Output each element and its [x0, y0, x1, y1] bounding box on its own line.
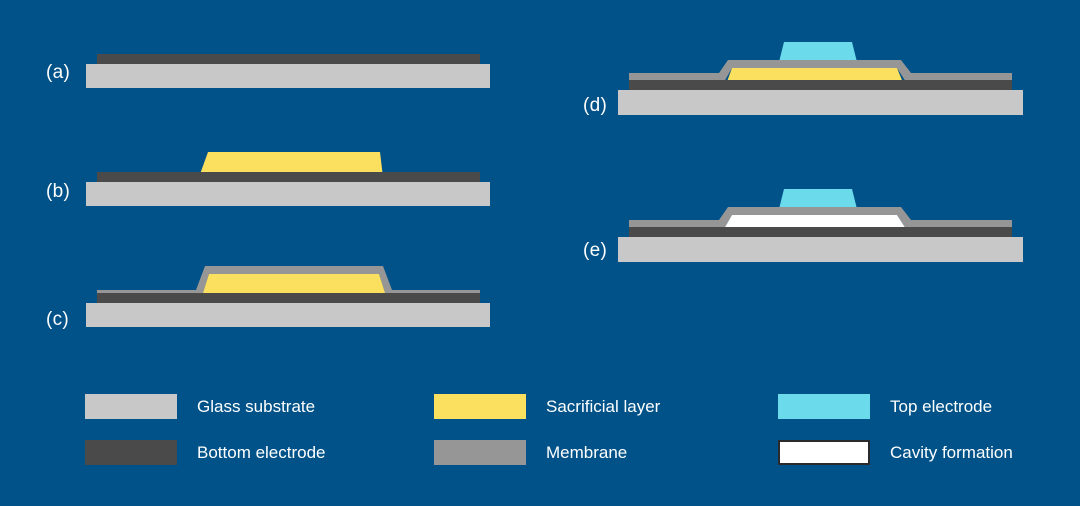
legend-label-membrane: Membrane — [546, 443, 627, 463]
legend-item-glass-substrate: Glass substrate — [85, 394, 315, 419]
legend-label-sacrificial-layer: Sacrificial layer — [546, 397, 660, 417]
legend-swatch-sacrificial-layer — [434, 394, 526, 419]
legend-item-membrane: Membrane — [434, 440, 627, 465]
legend-label-cavity-formation: Cavity formation — [890, 443, 1013, 463]
legend: Glass substrate Bottom electrode Sacrifi… — [0, 0, 1080, 506]
legend-swatch-membrane — [434, 440, 526, 465]
legend-item-top-electrode: Top electrode — [778, 394, 992, 419]
legend-swatch-glass-substrate — [85, 394, 177, 419]
legend-label-top-electrode: Top electrode — [890, 397, 992, 417]
legend-item-cavity-formation: Cavity formation — [778, 440, 1013, 465]
figure-canvas: (a) (b) (c) — [0, 0, 1080, 506]
legend-label-glass-substrate: Glass substrate — [197, 397, 315, 417]
legend-swatch-top-electrode — [778, 394, 870, 419]
legend-label-bottom-electrode: Bottom electrode — [197, 443, 326, 463]
legend-item-bottom-electrode: Bottom electrode — [85, 440, 326, 465]
legend-item-sacrificial-layer: Sacrificial layer — [434, 394, 660, 419]
legend-swatch-cavity-formation — [778, 440, 870, 465]
legend-swatch-bottom-electrode — [85, 440, 177, 465]
